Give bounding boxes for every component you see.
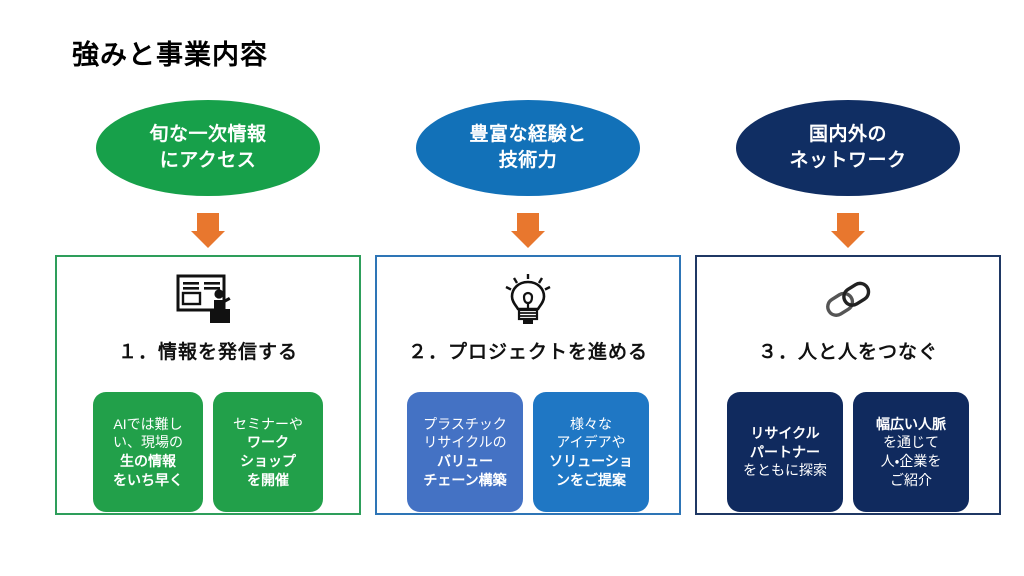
subbox-line: い、現場の [113, 433, 183, 452]
strength-ellipse-3[interactable]: 国内外の ネットワーク [736, 100, 960, 196]
subbox-line: 人・企業を [881, 452, 942, 471]
ellipse-wrap-1: 旬な一次情報 にアクセス [55, 100, 361, 200]
subbox-1-2[interactable]: セミナーや ワーク ショップ を開催 [213, 392, 323, 512]
arrow-wrap-1 [55, 200, 361, 255]
subbox-line: を通じて [883, 433, 939, 452]
subbox-line: をともに探索 [743, 461, 827, 480]
arrow-wrap-2 [375, 200, 681, 255]
ellipse-line: 旬な一次情報 [149, 122, 266, 148]
subbox-line: リサイクルの [423, 433, 506, 452]
subbox-line: をいち早く [113, 471, 183, 490]
subbox-line: 様々な [570, 415, 612, 434]
arrow-wrap-3 [695, 200, 1001, 255]
subbox-3-2[interactable]: 幅広い人脈 を通じて 人・企業を ご紹介 [853, 392, 969, 512]
business-panel-3[interactable]: ３．人と人をつなぐ リサイクル パートナー をともに探索 幅広い人脈 を通じて … [695, 255, 1001, 515]
subbox-3-1[interactable]: リサイクル パートナー をともに探索 [727, 392, 843, 512]
business-panel-1[interactable]: １．情報を発信する AIでは難し い、現場の 生の情報 をいち早く セミナーや … [55, 255, 361, 515]
arrow-head [191, 231, 225, 248]
chain-link-icon [697, 257, 999, 331]
subbox-line: リサイクル [750, 424, 819, 443]
subbox-group-1: AIでは難し い、現場の 生の情報 をいち早く セミナーや ワーク ショップ を… [57, 392, 359, 512]
subbox-line: セミナーや [233, 415, 303, 434]
ellipse-line: 国内外の [809, 122, 887, 148]
subbox-line: を開催 [247, 471, 289, 490]
subbox-group-3: リサイクル パートナー をともに探索 幅広い人脈 を通じて 人・企業を ご紹介 [697, 392, 999, 512]
subbox-line: ご紹介 [890, 471, 932, 490]
ellipse-wrap-2: 豊富な経験と 技術力 [375, 100, 681, 200]
subbox-line: アイデアや [556, 433, 625, 452]
subbox-line: パートナー [750, 443, 820, 462]
subbox-1-1[interactable]: AIでは難し い、現場の 生の情報 をいち早く [93, 392, 203, 512]
down-arrow-icon [831, 213, 865, 248]
strength-column-3: 国内外の ネットワーク ３．人と人をつなぐ リサイクル パートナー をともに探索 [695, 100, 1001, 515]
ellipse-line: 豊富な経験と [469, 122, 586, 148]
subbox-line: チェーン構築 [423, 471, 506, 490]
arrow-shaft [517, 213, 539, 231]
arrow-shaft [837, 213, 859, 231]
lightbulb-icon [377, 257, 679, 331]
subbox-group-2: プラスチック リサイクルの バリュー チェーン構築 様々な アイデアや ソリュー… [377, 392, 679, 512]
subbox-2-1[interactable]: プラスチック リサイクルの バリュー チェーン構築 [407, 392, 523, 512]
ellipse-wrap-3: 国内外の ネットワーク [695, 100, 1001, 200]
ellipse-line: にアクセス [160, 148, 257, 174]
subbox-line: ワーク [247, 433, 289, 452]
ellipse-line: 技術力 [499, 148, 558, 174]
down-arrow-icon [511, 213, 545, 248]
arrow-shaft [197, 213, 219, 231]
strength-column-1: 旬な一次情報 にアクセス １．情報を発信する [55, 100, 361, 515]
subbox-line: ショップ [240, 452, 296, 471]
strength-ellipse-2[interactable]: 豊富な経験と 技術力 [416, 100, 640, 196]
panel-heading-3: ３．人と人をつなぐ [697, 337, 999, 364]
subbox-line: 幅広い人脈 [876, 415, 946, 434]
subbox-line: ンをご提案 [556, 471, 626, 490]
arrow-head [831, 231, 865, 248]
subbox-line: プラスチック [423, 415, 507, 434]
panel-heading-1: １．情報を発信する [57, 337, 359, 364]
subbox-line: ソリューショ [549, 452, 633, 471]
subbox-line: 生の情報 [120, 452, 176, 471]
presentation-podium-icon [57, 257, 359, 331]
strength-column-2: 豊富な経験と 技術力 ２．プロ [375, 100, 681, 515]
subbox-2-2[interactable]: 様々な アイデアや ソリューショ ンをご提案 [533, 392, 649, 512]
panel-heading-2: ２．プロジェクトを進める [377, 337, 679, 364]
subbox-line: AIでは難し [113, 415, 182, 434]
business-panel-2[interactable]: ２．プロジェクトを進める プラスチック リサイクルの バリュー チェーン構築 様… [375, 255, 681, 515]
arrow-head [511, 231, 545, 248]
subbox-line: バリュー [437, 452, 493, 471]
page-title: 強みと事業内容 [72, 33, 268, 72]
down-arrow-icon [191, 213, 225, 248]
ellipse-line: ネットワーク [789, 148, 906, 174]
strength-ellipse-1[interactable]: 旬な一次情報 にアクセス [96, 100, 320, 196]
